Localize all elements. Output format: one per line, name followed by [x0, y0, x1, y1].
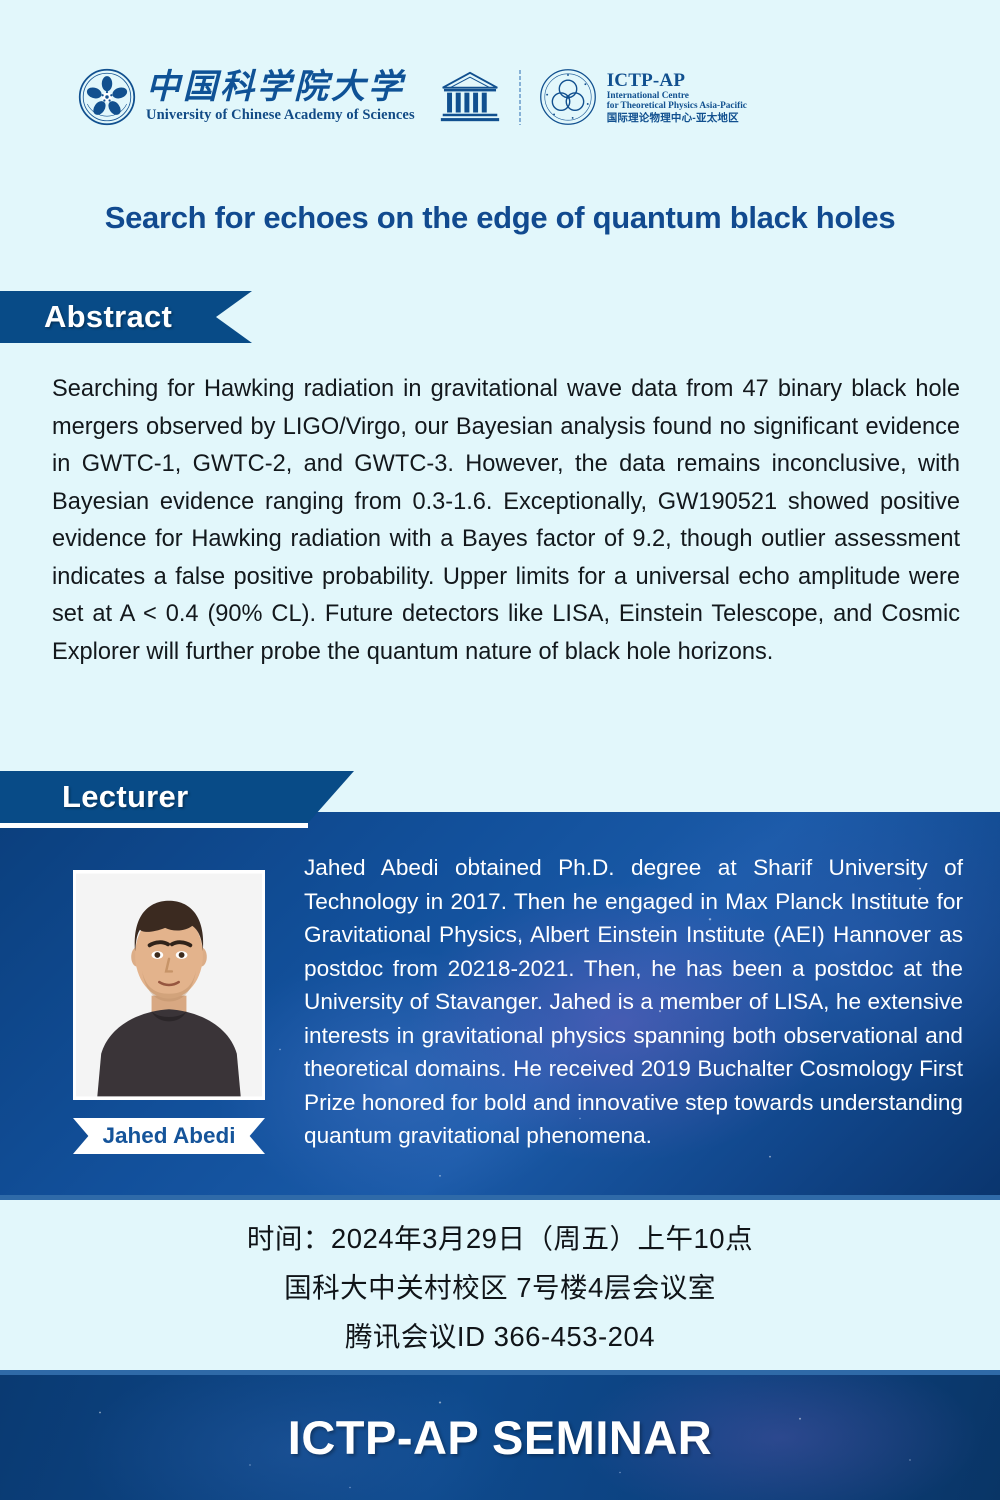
ucas-wordmark: 中国科学院大学 University of Chinese Academy of…: [146, 70, 415, 125]
ucas-name-cn: 中国科学院大学: [146, 70, 415, 106]
ictp-ap-subtitle-cn: 国际理论物理中心-亚太地区: [607, 113, 747, 125]
ictp-ap-logo: ICTP-AP International Centre for Theoret…: [539, 68, 747, 126]
event-details: 时间：2024年3月29日（周五）上午10点 国科大中关村校区 7号楼4层会议室…: [0, 1200, 1000, 1370]
speaker-portrait-photo: [76, 873, 262, 1097]
ictp-ap-subtitle-2: for Theoretical Physics Asia-Pacific: [607, 101, 747, 111]
page-title: Search for echoes on the edge of quantum…: [0, 200, 1000, 236]
abstract-body-text: Searching for Hawking radiation in gravi…: [52, 371, 960, 671]
unesco-logo: [439, 69, 539, 125]
event-time: 时间：2024年3月29日（周五）上午10点: [247, 1216, 753, 1256]
speaker-name-text: Jahed Abedi: [103, 1123, 236, 1149]
event-venue: 国科大中关村校区 7号楼4层会议室: [284, 1265, 716, 1305]
speaker-name-label: Jahed Abedi: [73, 1118, 265, 1154]
footer-banner: ICTP-AP SEMINAR: [0, 1375, 1000, 1500]
ucas-circular-emblem-icon: [78, 68, 136, 126]
abstract-heading-label: Abstract: [44, 299, 172, 335]
ictp-ap-wordmark: ICTP-AP International Centre for Theoret…: [607, 70, 747, 125]
event-meeting-id: 腾讯会议ID 366-453-204: [345, 1314, 655, 1354]
lecturer-heading-label: Lecturer: [62, 779, 188, 815]
speaker-bio-text: Jahed Abedi obtained Ph.D. degree at Sha…: [304, 851, 963, 1153]
header-logo-bar: 中国科学院大学 University of Chinese Academy of…: [78, 58, 747, 136]
ictp-trefoil-emblem-icon: [539, 68, 597, 126]
logo-divider: [519, 69, 521, 125]
abstract-section-heading: Abstract: [0, 291, 252, 343]
unesco-temple-logo-icon: [439, 69, 501, 125]
ucas-logo: 中国科学院大学 University of Chinese Academy of…: [78, 68, 415, 126]
footer-title: ICTP-AP SEMINAR: [288, 1410, 712, 1465]
avatar: [73, 870, 265, 1100]
ucas-name-en: University of Chinese Academy of Science…: [146, 107, 415, 124]
lecturer-section-heading: Lecturer: [0, 771, 308, 828]
ictp-ap-title: ICTP-AP: [607, 70, 747, 91]
ictp-ap-subtitle-1: International Centre: [607, 91, 747, 101]
seminar-poster: 中国科学院大学 University of Chinese Academy of…: [0, 0, 1000, 1500]
